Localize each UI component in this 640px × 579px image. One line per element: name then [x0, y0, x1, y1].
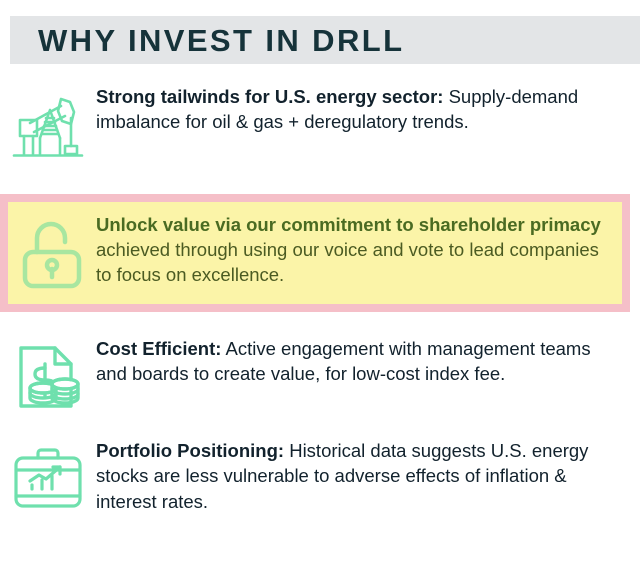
- oil-pumpjack-icon: [10, 90, 86, 162]
- bullet-text: Portfolio Positioning: Historical data s…: [96, 438, 630, 514]
- bullet-row-energy-sector: Strong tailwinds for U.S. energy sector:…: [0, 78, 640, 168]
- icon-cell: [8, 212, 96, 292]
- bullet-row-shareholder-primacy: Unlock value via our commitment to share…: [0, 194, 630, 312]
- briefcase-chart-icon: [10, 444, 86, 514]
- slide-root: WHY INVEST IN DRLL: [0, 0, 640, 579]
- bullet-list: Strong tailwinds for U.S. energy sector:…: [0, 78, 640, 520]
- bullet-row-cost-efficient: Cost Efficient: Active engagement with m…: [0, 330, 640, 422]
- header-bar: WHY INVEST IN DRLL: [10, 16, 640, 64]
- bullet-lead: Portfolio Positioning:: [96, 440, 284, 461]
- bullet-lead: Unlock value via our commitment to share…: [96, 214, 601, 235]
- bullet-text: Unlock value via our commitment to share…: [96, 212, 610, 287]
- icon-cell: [0, 438, 96, 514]
- bullet-lead: Strong tailwinds for U.S. energy sector:: [96, 86, 443, 107]
- open-padlock-icon: [18, 216, 86, 292]
- bullet-text: Strong tailwinds for U.S. energy sector:…: [96, 84, 630, 135]
- icon-cell: [0, 336, 96, 416]
- document-dollar-coins-icon: [13, 342, 83, 416]
- bullet-row-portfolio-positioning: Portfolio Positioning: Historical data s…: [0, 432, 640, 520]
- page-title: WHY INVEST IN DRLL: [38, 25, 404, 56]
- bullet-body: achieved through using our voice and vot…: [96, 239, 599, 285]
- icon-cell: [0, 84, 96, 162]
- bullet-text: Cost Efficient: Active engagement with m…: [96, 336, 630, 387]
- bullet-lead: Cost Efficient:: [96, 338, 221, 359]
